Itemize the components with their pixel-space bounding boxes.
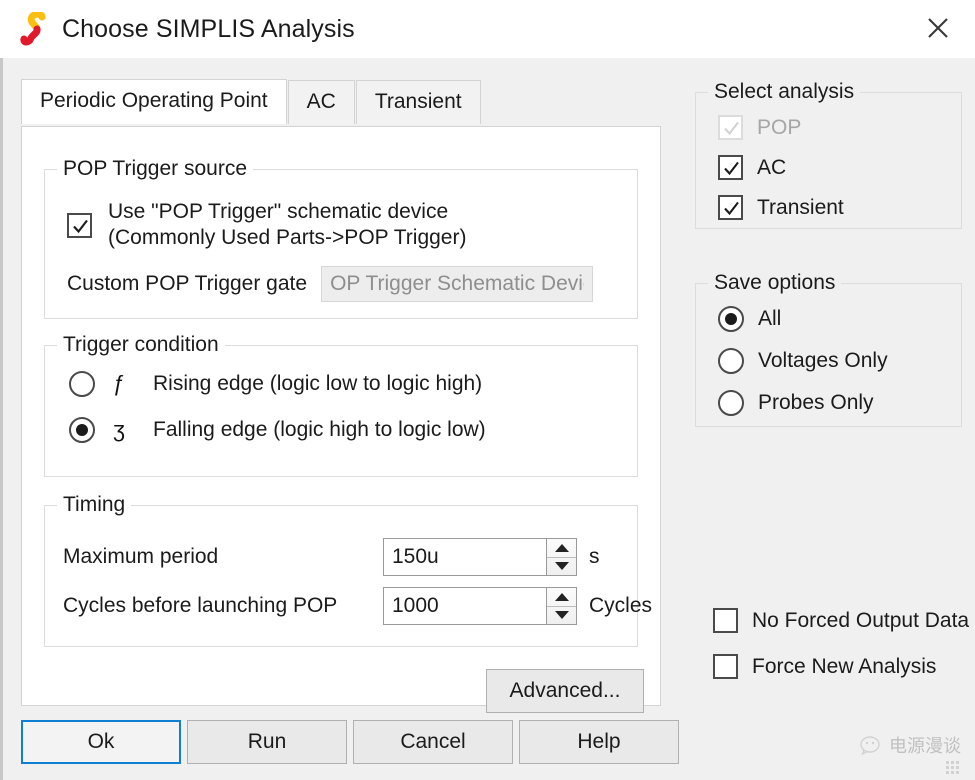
maximum-period-stepper[interactable] (547, 538, 577, 576)
checkbox-no-forced-output-data-label: No Forced Output Data (752, 609, 969, 633)
simplis-s-logo-icon (20, 12, 50, 46)
help-button-label: Help (577, 730, 620, 754)
group-select-analysis: Select analysis POP AC (695, 92, 962, 229)
use-pop-trigger-device-label-line1: Use "POP Trigger" schematic device (108, 200, 466, 224)
advanced-button-label: Advanced... (510, 679, 621, 703)
cycles-before-pop-row: Cycles before launching POP Cycles (63, 587, 652, 625)
checkbox-pop-label: POP (757, 116, 801, 140)
close-icon[interactable] (915, 8, 961, 48)
group-trigger-condition: Trigger condition ƒ Rising edge (logic l… (44, 345, 638, 477)
radio-falling-edge[interactable] (69, 417, 95, 443)
radio-probes-only-row[interactable]: Probes Only (718, 390, 874, 416)
rising-edge-icon: ƒ (113, 373, 135, 395)
checkbox-ac-row[interactable]: AC (718, 155, 786, 180)
checkbox-ac[interactable] (718, 155, 743, 180)
tab-strip: Periodic Operating Point AC Transient (21, 79, 482, 124)
cycles-before-pop-stepper[interactable] (547, 587, 577, 625)
radio-dot (725, 313, 737, 325)
checkbox-force-new-analysis-label: Force New Analysis (752, 655, 936, 679)
falling-edge-icon: ʒ (113, 419, 135, 441)
tab-periodic-operating-point[interactable]: Periodic Operating Point (21, 79, 287, 124)
window-title: Choose SIMPLIS Analysis (62, 15, 355, 44)
maximum-period-row: Maximum period s (63, 538, 600, 576)
checkbox-pop (718, 115, 743, 140)
tab-label: Periodic Operating Point (40, 89, 268, 112)
group-title: Timing (57, 493, 131, 517)
dialog-window: Choose SIMPLIS Analysis Periodic Operati… (0, 0, 975, 780)
cycles-before-pop-label: Cycles before launching POP (63, 594, 383, 618)
radio-falling-edge-label: Falling edge (logic high to logic low) (153, 418, 486, 442)
maximum-period-label: Maximum period (63, 545, 383, 569)
tab-label: AC (307, 90, 336, 113)
group-title: POP Trigger source (57, 157, 253, 181)
radio-rising-edge[interactable] (69, 371, 95, 397)
stepper-down[interactable] (547, 607, 576, 625)
radio-save-all-label: All (758, 307, 781, 331)
use-pop-trigger-device-checkbox[interactable] (67, 213, 92, 238)
cancel-button[interactable]: Cancel (353, 720, 513, 764)
checkbox-no-forced-output-data-row[interactable]: No Forced Output Data (713, 608, 969, 633)
radio-falling-edge-row[interactable]: ʒ Falling edge (logic high to logic low) (69, 417, 486, 443)
radio-rising-edge-row[interactable]: ƒ Rising edge (logic low to logic high) (69, 371, 482, 397)
tab-transient[interactable]: Transient (356, 80, 481, 124)
use-pop-trigger-device-label-line2: (Commonly Used Parts->POP Trigger) (108, 226, 466, 250)
resize-grip (946, 761, 959, 774)
checkbox-pop-row: POP (718, 115, 801, 140)
checkbox-force-new-analysis-row[interactable]: Force New Analysis (713, 654, 936, 679)
custom-pop-trigger-gate-row: Custom POP Trigger gate (67, 266, 593, 302)
checkbox-transient-label: Transient (757, 196, 844, 220)
wechat-bubble-icon (860, 736, 882, 755)
use-pop-trigger-device-checkbox-row[interactable]: Use "POP Trigger" schematic device (Comm… (67, 200, 466, 250)
ok-button-label: Ok (88, 730, 115, 754)
advanced-button[interactable]: Advanced... (486, 669, 644, 713)
tab-ac[interactable]: AC (288, 80, 355, 124)
custom-pop-trigger-gate-input[interactable] (321, 266, 593, 302)
radio-save-all-row[interactable]: All (718, 306, 781, 332)
help-button[interactable]: Help (519, 720, 679, 764)
dialog-body: Periodic Operating Point AC Transient PO… (0, 58, 975, 780)
group-title: Save options (708, 271, 841, 295)
group-timing: Timing Maximum period s Cycles before la… (44, 505, 638, 647)
ok-button[interactable]: Ok (21, 720, 181, 764)
maximum-period-unit: s (589, 545, 600, 569)
stepper-up[interactable] (547, 588, 576, 607)
right-panel: Select analysis POP AC (673, 58, 975, 780)
watermark-text: 电源漫谈 (889, 732, 961, 758)
group-title: Select analysis (708, 80, 860, 104)
checkbox-transient-row[interactable]: Transient (718, 195, 844, 220)
group-pop-trigger-source: POP Trigger source Use "POP Trigger" sch… (44, 169, 638, 319)
checkbox-ac-label: AC (757, 156, 786, 180)
radio-voltages-only-label: Voltages Only (758, 349, 888, 373)
stepper-up[interactable] (547, 539, 576, 558)
radio-rising-edge-label: Rising edge (logic low to logic high) (153, 372, 482, 396)
radio-dot (76, 424, 88, 436)
left-panel: Periodic Operating Point AC Transient PO… (3, 58, 673, 780)
group-save-options: Save options All Voltages Only Probes On… (695, 283, 962, 427)
cycles-before-pop-input[interactable] (383, 587, 547, 625)
cancel-button-label: Cancel (400, 730, 465, 754)
checkbox-transient[interactable] (718, 195, 743, 220)
group-title: Trigger condition (57, 333, 225, 357)
radio-voltages-only-row[interactable]: Voltages Only (718, 348, 888, 374)
radio-probes-only[interactable] (718, 390, 744, 416)
radio-probes-only-label: Probes Only (758, 391, 874, 415)
footer-button-row: Ok Run Cancel Help (21, 720, 679, 764)
tab-label: Transient (375, 90, 462, 113)
run-button[interactable]: Run (187, 720, 347, 764)
checkbox-force-new-analysis[interactable] (713, 654, 738, 679)
checkbox-no-forced-output-data[interactable] (713, 608, 738, 633)
title-bar: Choose SIMPLIS Analysis (0, 0, 975, 58)
custom-pop-trigger-gate-label: Custom POP Trigger gate (67, 272, 307, 296)
radio-save-all[interactable] (718, 306, 744, 332)
maximum-period-input[interactable] (383, 538, 547, 576)
tab-panel-periodic-operating-point: POP Trigger source Use "POP Trigger" sch… (21, 126, 661, 706)
stepper-down[interactable] (547, 558, 576, 576)
radio-voltages-only[interactable] (718, 348, 744, 374)
watermark: 电源漫谈 (860, 732, 961, 758)
run-button-label: Run (248, 730, 287, 754)
cycles-before-pop-unit: Cycles (589, 594, 652, 618)
